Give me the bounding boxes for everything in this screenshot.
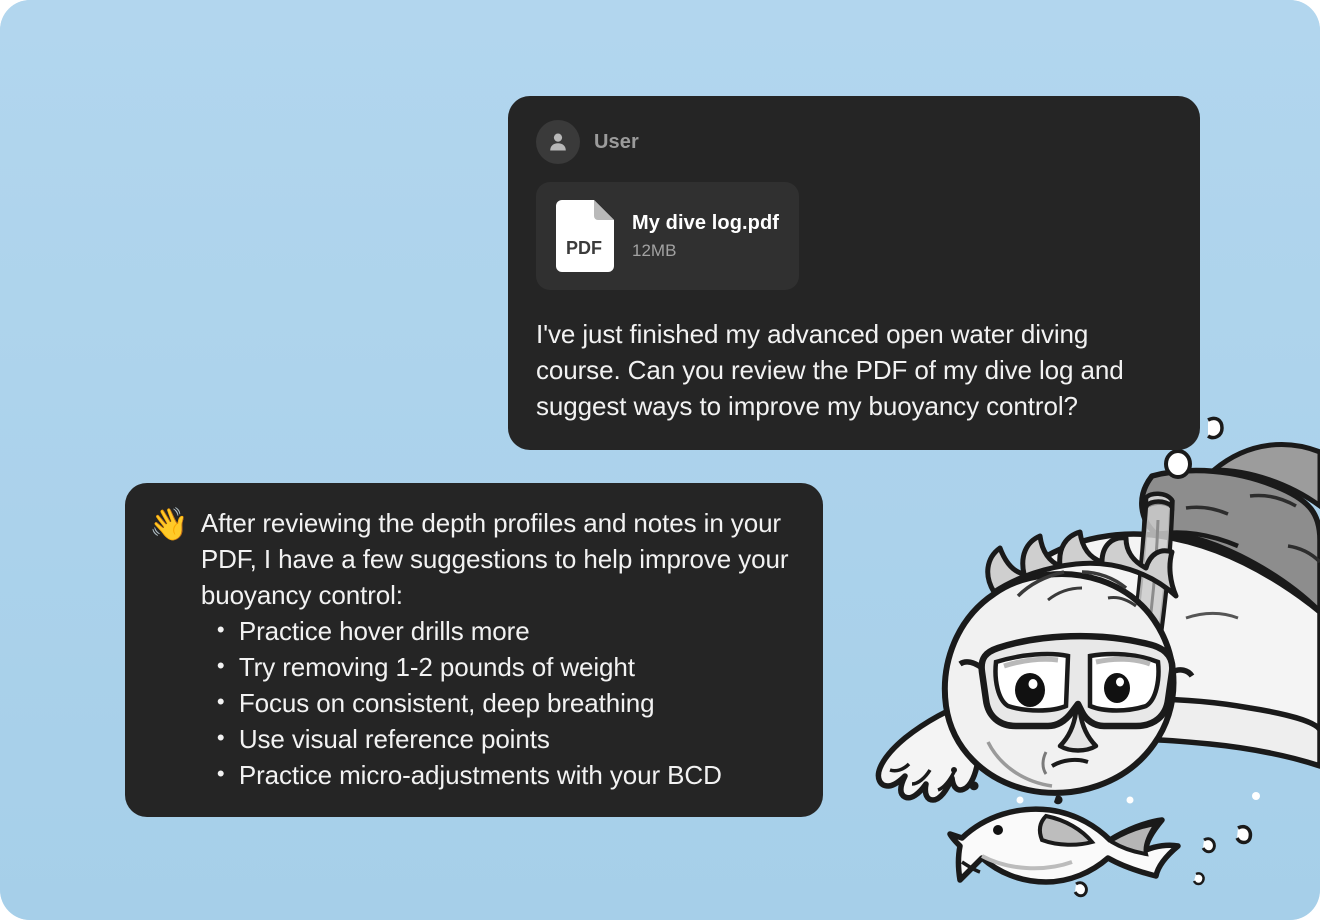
list-item: Try removing 1-2 pounds of weight — [239, 649, 797, 685]
suggestion-list: Practice hover drills more Try removing … — [201, 613, 797, 793]
chat-scene: User PDF My dive log.pdf 12MB I've just … — [0, 0, 1320, 920]
attachment-meta: My dive log.pdf 12MB — [632, 212, 779, 261]
list-item: Practice hover drills more — [239, 613, 797, 649]
assistant-text-column: After reviewing the depth profiles and n… — [201, 505, 797, 793]
user-message-text: I've just finished my advanced open wate… — [536, 316, 1172, 424]
list-item: Use visual reference points — [239, 721, 797, 757]
diver-figure — [878, 445, 1320, 800]
svg-text:PDF: PDF — [566, 238, 602, 258]
person-icon — [546, 130, 570, 154]
fish-figure — [950, 809, 1178, 882]
avatar — [536, 120, 580, 164]
attachment-file-size: 12MB — [632, 241, 779, 261]
air-bubbles — [951, 394, 1260, 895]
assistant-intro-text: After reviewing the depth profiles and n… — [201, 505, 797, 613]
message-header: User — [536, 120, 1172, 164]
pdf-file-icon: PDF — [556, 200, 614, 272]
user-message-bubble: User PDF My dive log.pdf 12MB I've just … — [508, 96, 1200, 450]
list-item: Practice micro-adjustments with your BCD — [239, 757, 797, 793]
attachment-file-name: My dive log.pdf — [632, 212, 779, 235]
assistant-message-body: 👋 After reviewing the depth profiles and… — [149, 505, 797, 793]
sender-name: User — [594, 131, 639, 154]
assistant-message-bubble: 👋 After reviewing the depth profiles and… — [125, 483, 823, 817]
list-item: Focus on consistent, deep breathing — [239, 685, 797, 721]
waving-hand-emoji: 👋 — [149, 506, 189, 542]
attachment-card[interactable]: PDF My dive log.pdf 12MB — [536, 182, 799, 290]
